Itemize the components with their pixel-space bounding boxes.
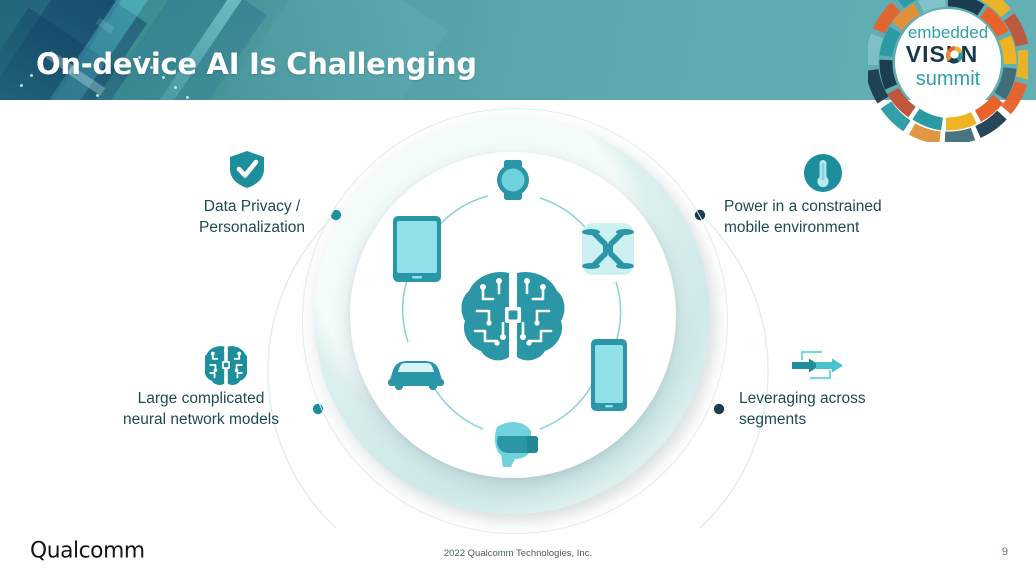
challenge-label-neural-models: Large complicated neural network models — [96, 388, 306, 430]
footer-copyright: 2022 Qualcomm Technologies, Inc. — [0, 548, 1036, 559]
logo-line-vision: VISI N — [906, 41, 978, 67]
challenge-label-data-privacy: Data Privacy / Personalization — [172, 196, 332, 238]
logo-line-summit: summit — [916, 68, 981, 90]
page-number: 9 — [1002, 546, 1008, 558]
tablet-icon — [393, 216, 441, 282]
smartwatch-icon — [497, 160, 529, 200]
central-diagram — [296, 104, 748, 544]
brain-icon — [205, 344, 247, 386]
device-orbit-group — [350, 152, 676, 478]
shield-check-icon — [226, 148, 268, 190]
slide-root: On-device AI Is Challenging — [0, 0, 1036, 580]
challenge-label-leveraging: Leveraging across segments — [739, 388, 959, 430]
car-icon — [388, 361, 444, 390]
page-title: On-device AI Is Challenging — [36, 47, 477, 81]
smartphone-icon — [591, 339, 627, 411]
embedded-vision-summit-logo: embedded VISI N summit — [868, 0, 1028, 142]
transfer-arrows-icon — [788, 344, 844, 386]
ai-circuit-brain-icon — [462, 272, 565, 360]
vr-headset-icon — [495, 422, 538, 467]
logo-line-embedded: embedded — [908, 23, 988, 42]
challenge-label-power: Power in a constrained mobile environmen… — [724, 196, 954, 238]
header-decoration-slab — [96, 18, 115, 34]
thermometer-icon — [802, 152, 844, 194]
drone-icon — [582, 223, 634, 275]
